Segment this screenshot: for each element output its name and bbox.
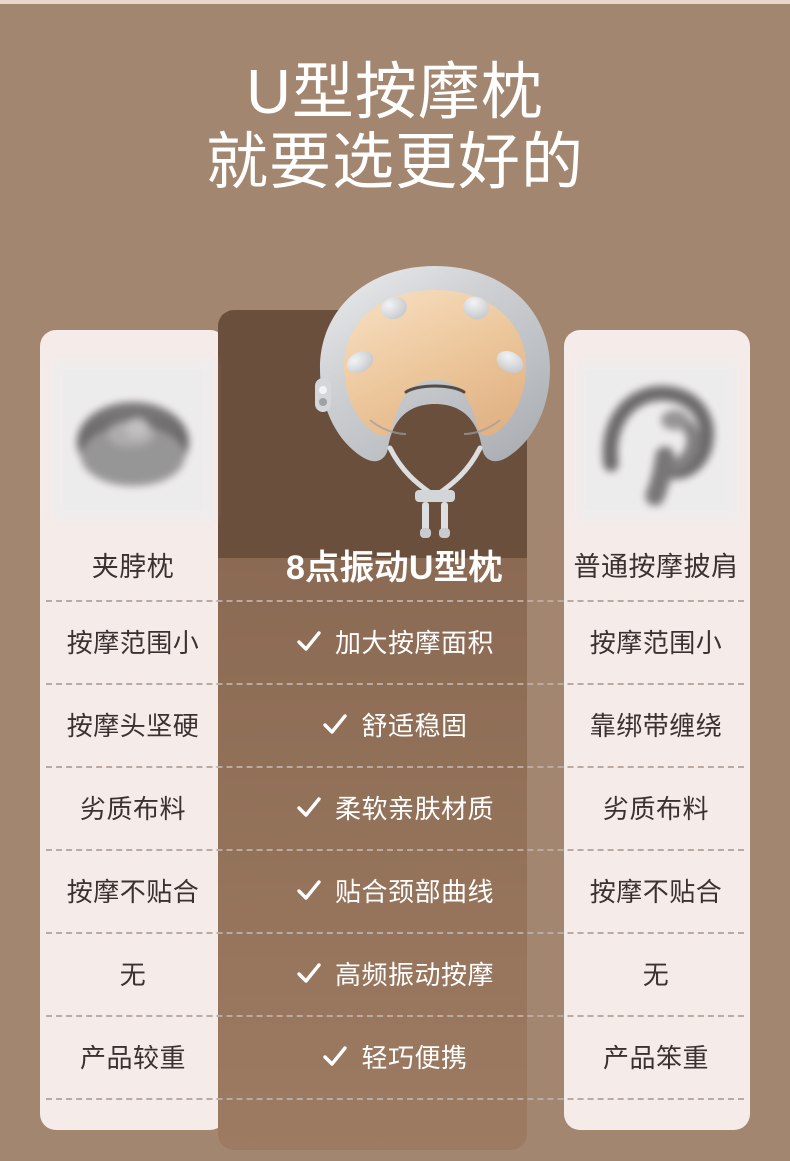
cell-left: 产品较重 xyxy=(40,1038,226,1075)
cell-center: 舒适稳固 xyxy=(240,706,549,743)
table-row: 按摩不贴合贴合颈部曲线按摩不贴合 xyxy=(40,849,750,931)
page-title-line-2: 就要选更好的 xyxy=(0,128,790,198)
cell-center-label: 柔软亲肤材质 xyxy=(335,789,494,826)
cell-right: 劣质布料 xyxy=(563,789,749,826)
cell-right: 按摩不贴合 xyxy=(563,872,749,909)
cell-center-label: 加大按摩面积 xyxy=(335,623,494,660)
row-divider xyxy=(46,1015,744,1017)
check-icon xyxy=(321,710,349,738)
cell-left: 劣质布料 xyxy=(40,789,226,826)
cell-left: 按摩头坚硬 xyxy=(40,706,226,743)
check-icon xyxy=(295,793,323,821)
u-shaped-massage-pillow-icon xyxy=(298,252,572,542)
header-cell-right: 普通按摩披肩 xyxy=(563,545,749,584)
comparison-table: 夹脖枕 8点振动U型枕 普通按摩披肩 按摩范围小加大按摩面积按摩范围小按摩头坚硬… xyxy=(40,330,750,1130)
row-divider xyxy=(46,600,744,602)
page-title: U型按摩枕 就要选更好的 xyxy=(0,58,790,198)
cell-center: 柔软亲肤材质 xyxy=(240,789,549,826)
top-accent-strip xyxy=(0,0,790,4)
cell-center: 贴合颈部曲线 xyxy=(240,872,549,909)
cell-right: 靠绑带缠绕 xyxy=(563,706,749,743)
check-icon xyxy=(295,876,323,904)
cell-right: 产品笨重 xyxy=(563,1038,749,1075)
row-divider xyxy=(46,766,744,768)
check-icon xyxy=(295,627,323,655)
product-thumbnail-left xyxy=(53,360,213,520)
cell-center: 轻巧便携 xyxy=(240,1038,549,1075)
product-thumbnail-right xyxy=(577,360,737,520)
table-row: 按摩头坚硬舒适稳固靠绑带缠绕 xyxy=(40,683,750,765)
table-header-row: 夹脖枕 8点振动U型枕 普通按摩披肩 xyxy=(40,528,750,600)
check-icon xyxy=(295,959,323,987)
check-icon xyxy=(321,1042,349,1070)
cell-left: 无 xyxy=(40,955,226,992)
cell-center: 高频振动按摩 xyxy=(240,955,549,992)
table-row: 无高频振动按摩无 xyxy=(40,932,750,1014)
cell-right: 按摩范围小 xyxy=(563,623,749,660)
row-divider xyxy=(46,932,744,934)
cell-center-label: 轻巧便携 xyxy=(361,1038,467,1075)
infographic-page: U型按摩枕 就要选更好的 xyxy=(0,0,790,1161)
table-row: 劣质布料柔软亲肤材质劣质布料 xyxy=(40,766,750,848)
cell-center-label: 高频振动按摩 xyxy=(335,955,494,992)
neck-clamp-pillow-icon xyxy=(53,360,213,520)
cell-center-label: 贴合颈部曲线 xyxy=(335,872,494,909)
cell-center: 加大按摩面积 xyxy=(240,623,549,660)
product-image-center-hero xyxy=(298,252,572,542)
cell-right: 无 xyxy=(563,955,749,992)
shoulder-shawl-massager-icon xyxy=(577,360,737,520)
row-divider xyxy=(46,849,744,851)
row-divider xyxy=(46,1098,744,1100)
cell-center-label: 舒适稳固 xyxy=(361,706,467,743)
cell-left: 按摩范围小 xyxy=(40,623,226,660)
table-row: 按摩范围小加大按摩面积按摩范围小 xyxy=(40,600,750,682)
row-divider xyxy=(46,683,744,685)
cell-left: 按摩不贴合 xyxy=(40,872,226,909)
table-row: 产品较重轻巧便携产品笨重 xyxy=(40,1015,750,1097)
header-cell-center: 8点振动U型枕 xyxy=(240,540,549,589)
page-title-line-1: U型按摩枕 xyxy=(0,58,790,128)
header-cell-left: 夹脖枕 xyxy=(40,545,226,584)
